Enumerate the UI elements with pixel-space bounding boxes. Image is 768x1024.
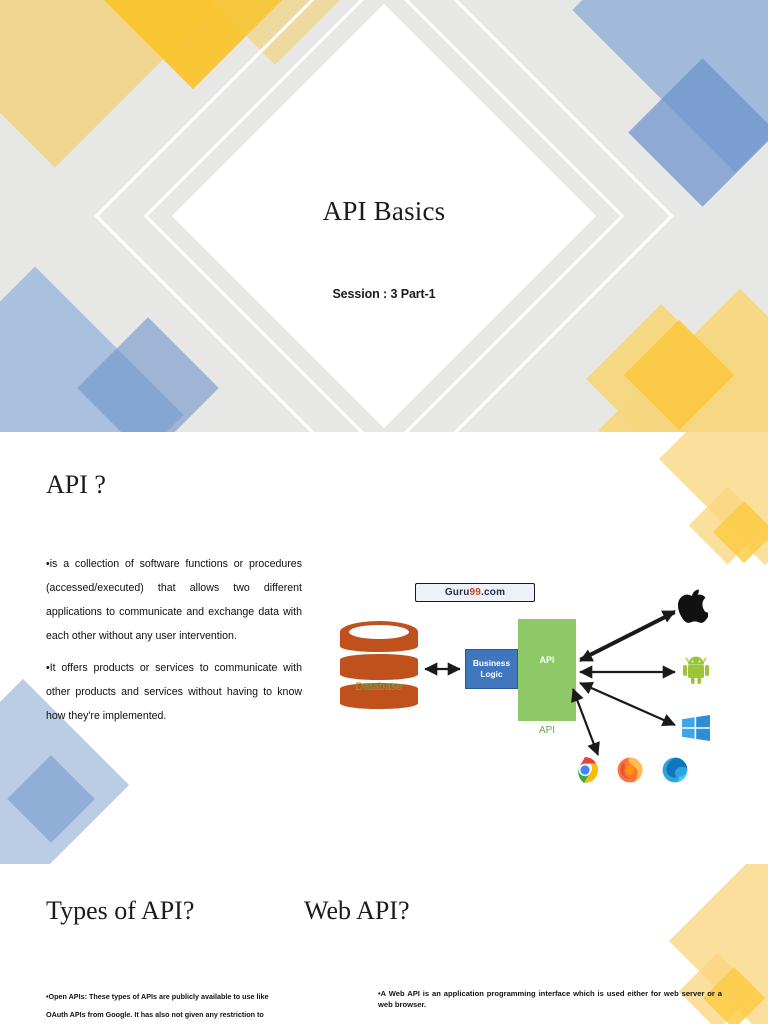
page-title: API Basics [0,196,768,227]
section-heading-api: API ? [46,470,106,500]
firefox-icon [617,757,643,788]
edge-icon [662,757,688,788]
api-types-slide: Types of API? Web API? •Open APIs: These… [0,864,768,1024]
android-icon [682,655,710,690]
api-definition-text: •is a collection of software functions o… [46,552,302,728]
types-of-api-line-1: •Open APIs: These types of APIs are publ… [46,988,304,1006]
chrome-icon [572,757,598,788]
api-bullet-1: •is a collection of software functions o… [46,552,302,648]
windows-icon [682,715,710,746]
page-subtitle: Session : 3 Part-1 [0,287,768,301]
section-heading-web-api: Web API? [304,896,410,926]
types-of-api-line-2: OAuth APIs from Google. It has also not … [46,1006,304,1024]
apple-icon [678,589,708,628]
slide-deck-page: API Basics Session : 3 Part-1 API ? •is … [0,0,768,1024]
api-definition-slide: API ? •is a collection of software funct… [0,432,768,864]
web-api-line-1: •A Web API is an application programming… [378,988,722,1010]
section-heading-types-of-api: Types of API? [46,896,194,926]
api-bullet-2: •It offers products or services to commu… [46,656,302,728]
web-api-text: •A Web API is an application programming… [378,988,722,1010]
types-of-api-text: •Open APIs: These types of APIs are publ… [46,988,304,1024]
api-architecture-diagram: Guru99.com Database API API Business Log… [330,577,750,797]
title-slide: API Basics Session : 3 Part-1 [0,0,768,432]
